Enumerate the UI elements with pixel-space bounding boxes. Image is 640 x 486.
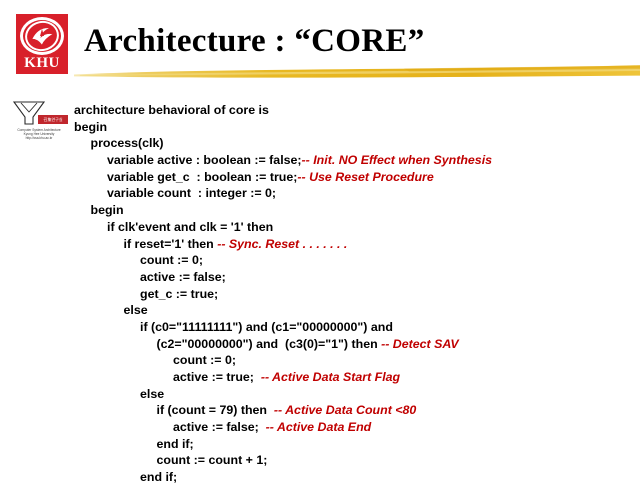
- code-comment: -- Active Data Start Flag: [261, 370, 400, 384]
- code-line: if reset='1' then -- Sync. Reset . . . .…: [74, 236, 634, 253]
- code-line: active := true; -- Active Data Start Fla…: [74, 369, 634, 386]
- code-line: begin: [74, 202, 634, 219]
- code-line: count := 0;: [74, 352, 634, 369]
- code-text: else: [140, 387, 164, 401]
- code-text: end if;: [157, 437, 194, 451]
- code-text: variable active : boolean := false;: [107, 153, 302, 167]
- code-line: variable count : integer := 0;: [74, 185, 634, 202]
- code-comment: -- Use Reset Procedure: [297, 170, 433, 184]
- code-text: architecture behavioral of core is: [74, 103, 269, 117]
- code-line: active := false; -- Active Data End: [74, 419, 634, 436]
- khu-university-logo: KHU: [16, 14, 68, 74]
- code-line: else: [74, 386, 634, 403]
- code-line: process(clk): [74, 135, 634, 152]
- code-comment: -- Detect SAV: [381, 337, 459, 351]
- code-text: end if;: [140, 470, 177, 484]
- code-text: process(clk): [91, 136, 164, 150]
- brush-stroke-icon: [74, 63, 640, 79]
- code-text: else: [124, 303, 148, 317]
- khu-logo-background: KHU: [16, 14, 68, 74]
- page-title: Architecture : “CORE”: [84, 22, 425, 60]
- code-line: active := false;: [74, 269, 634, 286]
- code-text: get_c := true;: [140, 287, 218, 301]
- lab-logo: 召集연구실 Computer System Architecture Kyung…: [8, 98, 70, 144]
- lab-chip-label: 召集연구실: [38, 115, 68, 124]
- code-line: if (c0="11111111") and (c1="00000000") a…: [74, 319, 634, 336]
- lab-chip-badge: 召集연구실: [38, 115, 68, 124]
- khu-bird-icon: [30, 25, 56, 47]
- code-line: if clk'event and clk = '1' then: [74, 219, 634, 236]
- code-line: variable active : boolean := false;-- In…: [74, 152, 634, 169]
- vhdl-code-block: architecture behavioral of core isbeginp…: [74, 102, 634, 486]
- code-text: (c2="00000000") and (c3(0)="1") then: [157, 337, 382, 351]
- code-text: if (c0="11111111") and (c1="00000000") a…: [140, 320, 393, 334]
- code-line: architecture behavioral of core is: [74, 102, 634, 119]
- code-comment: -- Active Data End: [266, 420, 372, 434]
- khu-logo-text: KHU: [16, 56, 68, 71]
- code-text: count := 0;: [140, 253, 203, 267]
- lab-caption-line-3: http://csa.khu.ac.kr: [8, 136, 70, 140]
- code-text: active := false;: [140, 270, 226, 284]
- code-text: if clk'event and clk = '1' then: [107, 220, 273, 234]
- code-line: end if;: [74, 469, 634, 486]
- code-text: begin: [91, 203, 124, 217]
- code-line: end if;: [74, 436, 634, 453]
- code-text: variable get_c : boolean := true;: [107, 170, 297, 184]
- code-comment: -- Init. NO Effect when Synthesis: [302, 153, 492, 167]
- code-text: if (count = 79) then: [157, 403, 274, 417]
- title-underline-decoration: [74, 63, 640, 79]
- code-text: count := count + 1;: [157, 453, 268, 467]
- code-line: count := count + 1;: [74, 452, 634, 469]
- code-text: active := false;: [173, 420, 266, 434]
- code-line: else: [74, 302, 634, 319]
- code-comment: -- Sync. Reset . . . . . . .: [217, 237, 347, 251]
- code-text: active := true;: [173, 370, 261, 384]
- code-text: begin: [74, 120, 107, 134]
- code-line: (c2="00000000") and (c3(0)="1") then -- …: [74, 336, 634, 353]
- code-text: count := 0;: [173, 353, 236, 367]
- code-text: if reset='1' then: [124, 237, 218, 251]
- code-line: if (count = 79) then -- Active Data Coun…: [74, 402, 634, 419]
- code-line: begin: [74, 119, 634, 136]
- code-comment: -- Active Data Count <80: [274, 403, 416, 417]
- code-line: count := 0;: [74, 252, 634, 269]
- code-line: get_c := true;: [74, 286, 634, 303]
- code-text: variable count : integer := 0;: [107, 186, 276, 200]
- slide-canvas: KHU Architecture : “CORE”: [0, 0, 640, 480]
- code-line: variable get_c : boolean := true;-- Use …: [74, 169, 634, 186]
